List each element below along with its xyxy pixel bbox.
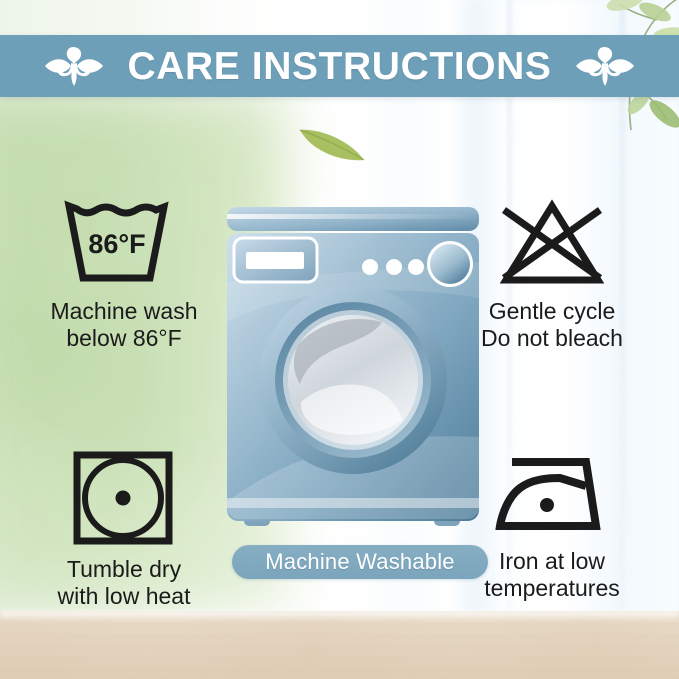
tumble-dry-icon bbox=[68, 448, 180, 548]
fleur-de-lis-icon-left bbox=[43, 44, 105, 88]
wooden-table-surface bbox=[0, 611, 679, 679]
care-symbol-tumble-dry: Tumble dry with low heat bbox=[24, 448, 224, 609]
washer-lid-shine bbox=[227, 214, 479, 219]
wood-grain-texture bbox=[0, 611, 679, 679]
fleur-de-lis-icon-right bbox=[574, 44, 636, 88]
wood-table-edge bbox=[0, 611, 679, 620]
banner-title: CARE INSTRUCTIONS bbox=[127, 47, 551, 86]
floating-leaf-icon bbox=[296, 120, 368, 164]
washer-drawer-slot bbox=[246, 252, 304, 269]
iron-icon bbox=[490, 448, 614, 540]
machine-washable-badge: Machine Washable bbox=[232, 545, 488, 579]
wash-tub-temperature: 86°F bbox=[88, 229, 145, 259]
washer-button-3 bbox=[408, 259, 424, 275]
care-symbol-caption: Iron at low temperatures bbox=[484, 548, 620, 601]
washing-machine-illustration bbox=[222, 202, 484, 540]
care-symbol-caption: Tumble dry with low heat bbox=[58, 556, 191, 609]
washer-bottom-trim bbox=[227, 498, 479, 508]
care-symbol-caption: Gentle cycle Do not bleach bbox=[481, 298, 623, 351]
care-symbol-machine-wash: 86°F Machine wash below 86°F bbox=[24, 196, 224, 351]
care-instructions-graphic: CARE INSTRUCTIONS 86°F Machine wash belo… bbox=[0, 0, 679, 679]
machine-washable-label: Machine Washable bbox=[265, 551, 454, 573]
washer-button-2 bbox=[386, 259, 402, 275]
washer-button-1 bbox=[362, 259, 378, 275]
banner: CARE INSTRUCTIONS bbox=[0, 35, 679, 97]
care-symbol-caption: Machine wash below 86°F bbox=[50, 298, 197, 351]
triangle-crossed-out-icon bbox=[488, 196, 616, 290]
washer-program-dial bbox=[430, 244, 470, 284]
wash-tub-icon: 86°F bbox=[60, 196, 188, 290]
